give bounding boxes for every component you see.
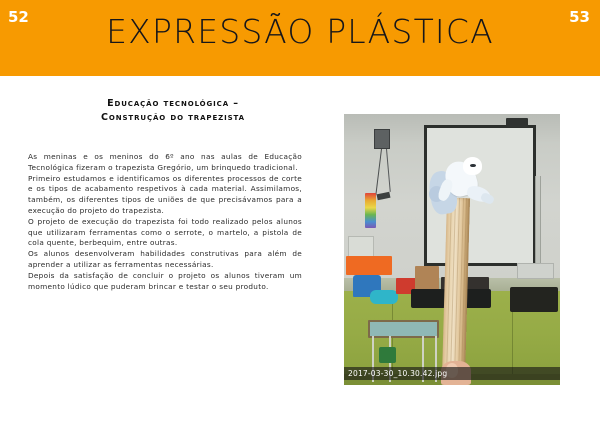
counter-item-grey-tray [517, 263, 554, 279]
article-paragraph: Depois da satisfação de concluir o proje… [28, 271, 302, 293]
wooden-stick [441, 198, 469, 385]
counter-item-tool-case [510, 287, 558, 311]
page-title: EXPRESSÃO PLÁSTICA [0, 13, 600, 51]
article-heading-line-2: Construção do trapezista [28, 111, 318, 125]
article-heading-line-1: Educação tecnológica – [107, 98, 239, 109]
wall-ruler [535, 176, 540, 274]
counter-item-cardboard-box [415, 266, 439, 290]
page-header-band: 52 EXPRESSÃO PLÁSTICA 53 [0, 0, 600, 76]
article-photo: 2017-03-30_10.30.42.jpg [344, 114, 560, 385]
paper-figure-eye [470, 164, 476, 167]
magazine-page: 52 EXPRESSÃO PLÁSTICA 53 Educação tecnol… [0, 0, 600, 424]
counter-item-orange-tray [346, 256, 391, 275]
classroom-desk [368, 320, 439, 338]
page-content: Educação tecnológica – Construção do tra… [0, 76, 600, 424]
photo-scene: 2017-03-30_10.30.42.jpg [344, 114, 560, 385]
article-body: As meninas e os meninos do 6º ano nas au… [28, 152, 302, 292]
page-number-right: 53 [569, 10, 590, 25]
article-paragraph: O projeto de execução do trapezista foi … [28, 217, 302, 249]
wall-socket-box [374, 129, 390, 149]
article-paragraph: Primeiro estudamos e identificamos os di… [28, 174, 302, 217]
waste-bin [379, 347, 396, 363]
article-heading: Educação tecnológica – Construção do tra… [28, 97, 318, 125]
counter-item-white-box [348, 236, 374, 258]
photo-filename-caption: 2017-03-30_10.30.42.jpg [344, 367, 560, 380]
colour-poster [365, 193, 377, 228]
counter-item-teal-bowl [370, 290, 398, 304]
projector-mount [506, 118, 528, 127]
article-paragraph: As meninas e os meninos do 6º ano nas au… [28, 152, 302, 174]
article-paragraph: Os alunos desenvolveram habilidades cons… [28, 249, 302, 271]
